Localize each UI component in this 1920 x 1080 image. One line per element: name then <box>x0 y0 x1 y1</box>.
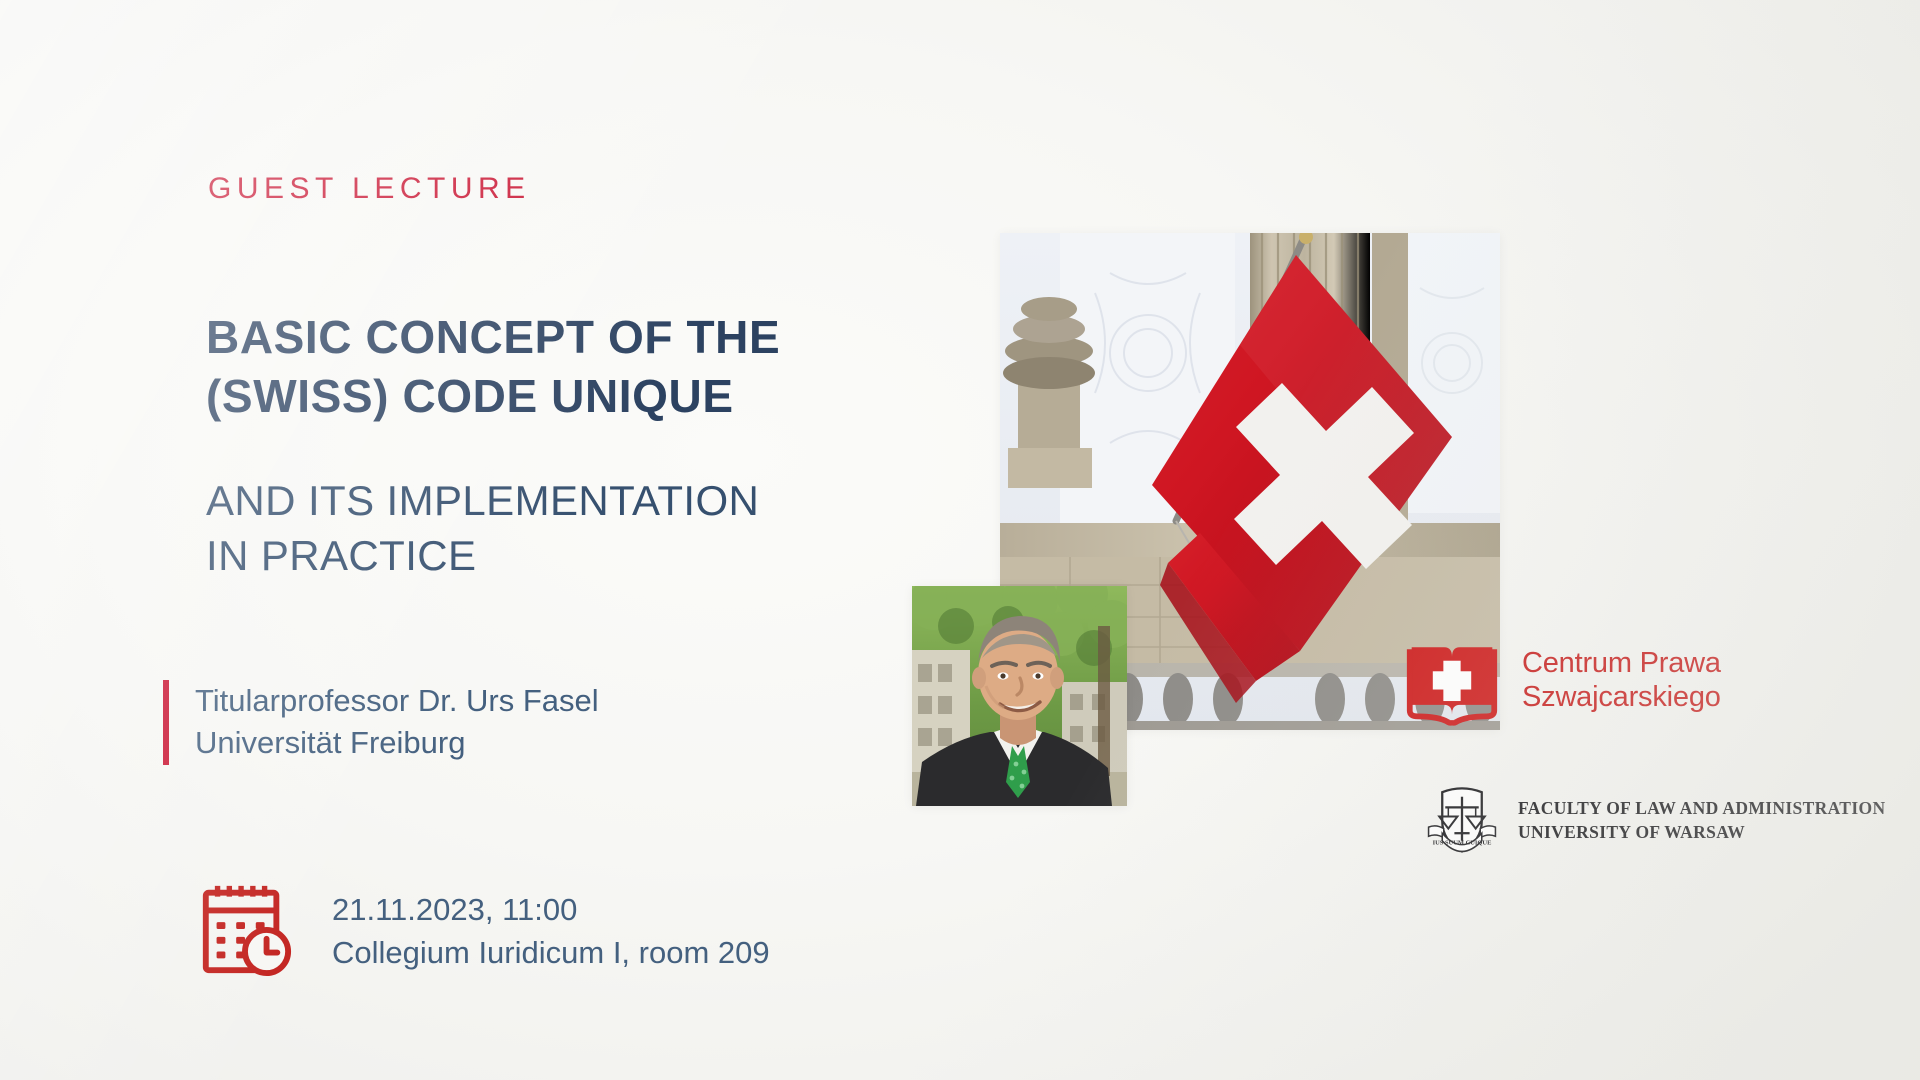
open-book-swiss-cross-icon <box>1404 630 1500 731</box>
subtitle-line-1: AND ITS IMPLEMENTATION <box>206 474 759 529</box>
university-logo-line-1: FACULTY OF LAW AND ADMINISTRATION <box>1518 797 1885 820</box>
speaker-text: Titularprofessor Dr. Urs Fasel Universit… <box>195 680 599 765</box>
centrum-logo-text: Centrum Prawa Szwajcarskiego <box>1522 647 1721 714</box>
speaker-affiliation: Universität Freiburg <box>195 722 599 764</box>
uw-logo-motto: IUS SUUM CUIQUE <box>1433 840 1492 847</box>
speaker-name: Titularprofessor Dr. Urs Fasel <box>195 680 599 722</box>
subtitle-line-2: IN PRACTICE <box>206 529 759 584</box>
title-line-2: (SWISS) CODE UNIQUE <box>206 367 780 426</box>
speaker-portrait-illustration <box>912 586 1127 806</box>
event-venue: Collegium Iuridicum I, room 209 <box>332 932 770 975</box>
calendar-clock-icon <box>196 880 294 983</box>
centrum-logo-line-1: Centrum Prawa <box>1522 647 1721 681</box>
title-line-1: BASIC CONCEPT OF THE <box>206 308 780 367</box>
event-datetime: 21.11.2023, 11:00 <box>332 889 770 932</box>
poster-subtitle: AND ITS IMPLEMENTATION IN PRACTICE <box>206 474 759 583</box>
poster-eyebrow-label: GUEST LECTURE <box>208 172 531 206</box>
centrum-prawa-szwajcarskiego-logo: Centrum Prawa Szwajcarskiego <box>1404 630 1721 731</box>
speaker-accent-bar <box>163 680 169 765</box>
lecture-poster: GUEST LECTURE BASIC CONCEPT OF THE (SWIS… <box>0 0 1920 1080</box>
speaker-portrait-photo <box>912 586 1127 806</box>
event-details-block: 21.11.2023, 11:00 Collegium Iuridicum I,… <box>196 880 770 983</box>
shield-scales-of-justice-icon: IUS SUUM CUIQUE <box>1424 780 1500 861</box>
centrum-logo-line-2: Szwajcarskiego <box>1522 681 1721 715</box>
event-text: 21.11.2023, 11:00 Collegium Iuridicum I,… <box>332 889 770 975</box>
speaker-block: Titularprofessor Dr. Urs Fasel Universit… <box>163 680 599 765</box>
poster-title: BASIC CONCEPT OF THE (SWISS) CODE UNIQUE <box>206 308 780 426</box>
university-logo-text: FACULTY OF LAW AND ADMINISTRATION UNIVER… <box>1518 797 1885 843</box>
university-logo-line-2: UNIVERSITY OF WARSAW <box>1518 821 1885 844</box>
university-of-warsaw-law-faculty-logo: IUS SUUM CUIQUE FACULTY OF LAW AND ADMIN… <box>1424 780 1885 861</box>
